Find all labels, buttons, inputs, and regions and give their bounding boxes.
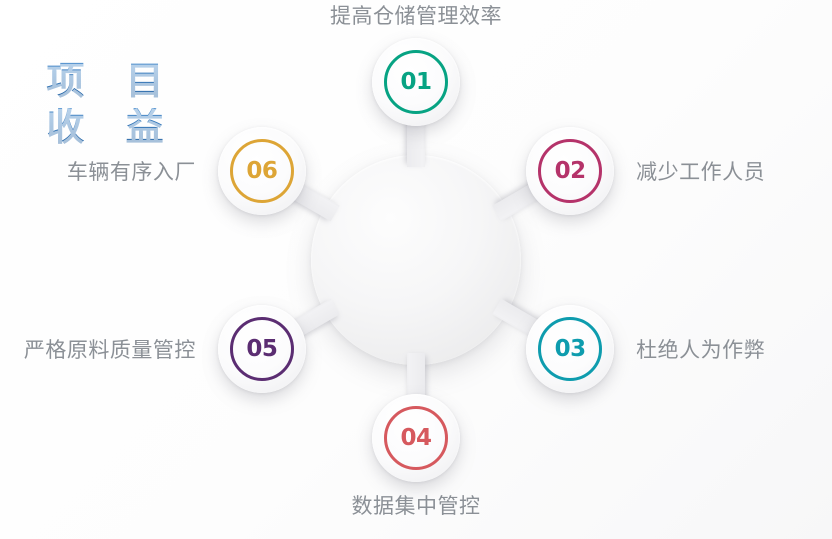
node-label-05: 严格原料质量管控 bbox=[24, 334, 196, 364]
node-label-03: 杜绝人为作弊 bbox=[636, 334, 765, 364]
node-number: 02 bbox=[526, 127, 614, 215]
center-title-line-1: 项 目 bbox=[32, 62, 177, 102]
node-number: 06 bbox=[218, 127, 306, 215]
node-badge-02[interactable]: 02 bbox=[526, 127, 614, 215]
node-badge-06[interactable]: 06 bbox=[218, 127, 306, 215]
node-badge-03[interactable]: 03 bbox=[526, 305, 614, 393]
node-badge-04[interactable]: 04 bbox=[372, 394, 460, 482]
node-badge-01[interactable]: 01 bbox=[372, 38, 460, 126]
node-label-04: 数据集中管控 bbox=[0, 490, 832, 520]
node-label-01: 提高仓储管理效率 bbox=[0, 0, 832, 30]
node-number: 01 bbox=[372, 38, 460, 126]
node-label-06: 车辆有序入厂 bbox=[67, 156, 196, 186]
node-badge-05[interactable]: 05 bbox=[218, 305, 306, 393]
center-hub bbox=[311, 155, 521, 365]
node-label-02: 减少工作人员 bbox=[636, 156, 765, 186]
node-number: 04 bbox=[372, 394, 460, 482]
node-number: 03 bbox=[526, 305, 614, 393]
diagram-canvas: 项 目 收 益 01 02 03 04 05 06 提高仓储管理效率 减少工作人… bbox=[0, 0, 832, 539]
center-title-line-2: 收 益 bbox=[32, 108, 177, 148]
node-number: 05 bbox=[218, 305, 306, 393]
